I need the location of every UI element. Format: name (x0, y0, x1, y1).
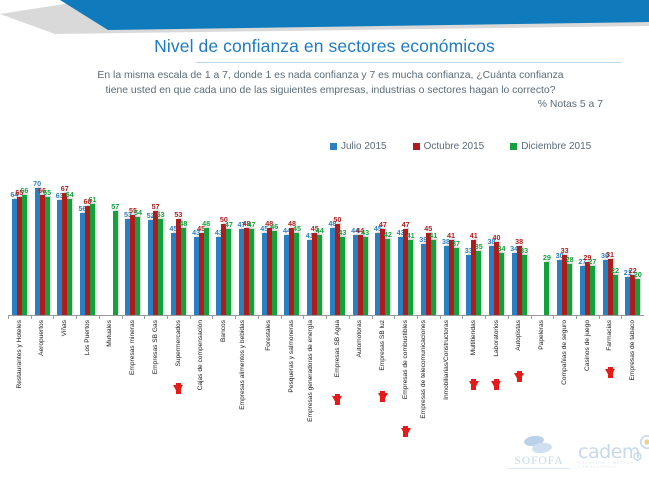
decline-arrow-icon (491, 381, 501, 390)
category-label: Mutuales (106, 320, 114, 347)
bar-group: 272927 (576, 150, 599, 315)
bar-value-label: 41 (429, 232, 437, 240)
bar-dic[interactable]: 48 (204, 228, 209, 315)
bar-value-label: 29 (543, 254, 551, 262)
bar-group: 444845 (281, 150, 304, 315)
x-axis-category: Empresas de telecomunicaciones (417, 318, 440, 438)
bar-value-label: 47 (225, 221, 233, 229)
bar-group: 384034 (485, 150, 508, 315)
page-title: Nivel de confianza en sectores económico… (0, 36, 649, 57)
category-label: Laboratorios (493, 320, 501, 357)
bar-group: 303328 (553, 150, 576, 315)
x-axis-category: Laboratorios (485, 318, 508, 438)
bar-slot: 34 (499, 150, 504, 315)
x-axis-category: Compañías de seguro (553, 318, 576, 438)
bar-slot: 20 (635, 150, 640, 315)
sofofa-wordmark: SOFOFA (508, 455, 570, 467)
bar-dic[interactable]: 33 (522, 255, 527, 315)
x-axis-category: Inmobiliarias/Constructoras (440, 318, 463, 438)
bar-dic[interactable]: 41 (431, 240, 436, 315)
x-axis-category: Empresas SB Gas (144, 318, 167, 438)
bar-dic[interactable]: 61 (90, 204, 95, 315)
bar-group: 303122 (599, 150, 622, 315)
bar-value-label: 33 (520, 247, 528, 255)
bar-dic[interactable]: 66 (22, 195, 27, 315)
bar-group: 384137 (440, 150, 463, 315)
category-label: Cajas de compensación (197, 320, 205, 390)
x-axis-category: Autopistas (508, 318, 531, 438)
bar-group: 646566 (8, 150, 31, 315)
category-label: Forestales (265, 320, 273, 351)
decline-arrow-icon (378, 393, 388, 402)
x-axis-category: Empresas de combustibles (394, 318, 417, 438)
bar-slot: 45 (294, 150, 299, 315)
bar-value-label: 42 (384, 231, 392, 239)
bar-slot: 65 (45, 150, 50, 315)
category-label: Compañías de seguro (561, 320, 569, 385)
legend-swatch-diciembre (510, 143, 517, 150)
category-label: Empresas de telecomunicaciones (420, 320, 436, 419)
category-label: Inmobiliarias/Constructoras (443, 320, 459, 400)
x-axis-category: Empresas SB Agua (326, 318, 349, 438)
title-divider (196, 62, 621, 63)
bar-value-label: 47 (248, 221, 256, 229)
subtitle: En la misma escala de 1 a 7, donde 1 es … (58, 68, 603, 98)
category-label: Empresas generadoras de energía (307, 320, 323, 422)
bar-slot: 54 (135, 150, 140, 315)
bar-dic[interactable]: 43 (363, 237, 368, 315)
bar-dic[interactable]: 41 (408, 240, 413, 315)
bar-slot: 28 (567, 150, 572, 315)
bar-group: 434548 (190, 150, 213, 315)
bar-dic[interactable]: 42 (385, 239, 390, 315)
bar-dic[interactable]: 54 (135, 217, 140, 315)
percent-note: % Notas 5 a 7 (58, 99, 603, 110)
sofofa-underline (508, 468, 570, 469)
category-label: Empresas de combustibles (402, 320, 410, 399)
x-axis-category: Empresas generadoras de energía (303, 318, 326, 438)
cadem-dot-icon (640, 435, 649, 453)
category-label: Viñas (61, 320, 69, 336)
bar-group: 454846 (258, 150, 281, 315)
decline-arrow-icon (605, 369, 615, 378)
bar-value-label: 54 (134, 209, 142, 217)
category-label: Pesqueras y salmoneras (288, 320, 296, 393)
bar-value-label: 64 (66, 191, 74, 199)
category-label: Empresas SB Gas (152, 320, 160, 374)
x-axis-category: Empresas SB luz (372, 318, 395, 438)
bar-dic[interactable]: 22 (613, 275, 618, 315)
bar-group: 525753 (144, 150, 167, 315)
category-label: Casinos de juego (584, 320, 592, 371)
header-banner (0, 0, 649, 40)
cadem-wordmark: cadem (578, 441, 640, 463)
bar-group: 29 (531, 150, 554, 315)
bar-value-label: 35 (475, 243, 483, 251)
bar-slot: 33 (522, 150, 527, 315)
legend-swatch-octubre (413, 143, 420, 150)
bar-group: 535554 (122, 150, 145, 315)
bar-slot: 41 (408, 150, 413, 315)
bar-group: 334135 (462, 150, 485, 315)
footer-logos: SOFOFA cadem ESTUDIOS · MEDIOS · CONSULT… (0, 429, 649, 473)
bar-value-label: 44 (316, 227, 324, 235)
category-label: Supermercados (175, 320, 183, 367)
bar-slot: 66 (22, 150, 27, 315)
bar-group: 394541 (417, 150, 440, 315)
bar-value-label: 43 (338, 229, 346, 237)
bar-value-label: 57 (111, 203, 119, 211)
bar-value-label: 45 (293, 225, 301, 233)
bar-group: 212220 (621, 150, 644, 315)
bar-dic[interactable]: 37 (454, 248, 459, 315)
bar-value-label: 65 (43, 189, 51, 197)
bar-group: 455348 (167, 150, 190, 315)
bar-dic[interactable]: 47 (249, 229, 254, 315)
x-axis-category: Empresas alimentos y bebidas (235, 318, 258, 438)
category-label: Papeleras (538, 320, 546, 350)
x-axis-category: Forestales (258, 318, 281, 438)
bar-group: 414544 (303, 150, 326, 315)
x-axis-category: Casinos de juego (576, 318, 599, 438)
x-axis-category-labels: Restaurantes y HotelesAeropuertosViñasLo… (8, 318, 644, 438)
bar-dic[interactable]: 57 (113, 211, 118, 315)
bar-group: 566061 (76, 150, 99, 315)
bar-slot: 37 (454, 150, 459, 315)
cadem-logo: cadem ESTUDIOS · MEDIOS · CONSULTORIA (578, 441, 649, 469)
bar-dic[interactable]: 34 (499, 253, 504, 315)
bar-slot: 43 (363, 150, 368, 315)
category-label: Autopistas (515, 320, 523, 351)
bar-slot: 41 (431, 150, 436, 315)
category-label: Empresas SB Agua (334, 320, 342, 377)
bar-dic[interactable]: 28 (567, 264, 572, 315)
bar-slot: 35 (476, 150, 481, 315)
bar-group: 434741 (394, 150, 417, 315)
bar-value-label: 43 (361, 229, 369, 237)
x-axis-category: Viñas (53, 318, 76, 438)
bar-value-label: 22 (611, 267, 619, 275)
bar-slot: 44 (317, 150, 322, 315)
bar-value-label: 20 (634, 271, 642, 279)
bar-value-label: 66 (20, 187, 28, 195)
category-label: Bancos (220, 320, 228, 342)
bar-value-label: 41 (407, 232, 415, 240)
bar-dic[interactable]: 44 (317, 235, 322, 315)
category-label: Los Puertos (84, 320, 92, 355)
bar-slot: 48 (204, 150, 209, 315)
bar-dic[interactable]: 46 (272, 231, 277, 315)
x-axis-category: Supermercados (167, 318, 190, 438)
x-axis-line (8, 315, 644, 316)
bar-slot: 47 (226, 150, 231, 315)
bar-dic[interactable]: 53 (158, 219, 163, 315)
bar-group: 343833 (508, 150, 531, 315)
decline-arrow-icon (173, 385, 183, 394)
bar-value-label: 48 (179, 220, 187, 228)
decline-arrow-icon (514, 373, 524, 382)
x-axis-category: Automotoras (349, 318, 372, 438)
x-axis-category: Cajas de compensación (190, 318, 213, 438)
bar-value-label: 48 (202, 220, 210, 228)
category-label: Empresas alimentos y bebidas (239, 320, 255, 410)
bar-group: 485043 (326, 150, 349, 315)
bar-slot: 61 (90, 150, 95, 315)
bar-groups: 6465667066656367645660615753555452575345… (8, 150, 644, 315)
subtitle-line-1: En la misma escala de 1 a 7, donde 1 es … (58, 68, 603, 83)
x-axis-category: Empresas mineras (122, 318, 145, 438)
x-axis-category: Multitiendas (462, 318, 485, 438)
subtitle-line-2: tiene usted en que cada uno de las sigui… (58, 83, 603, 98)
bar-group: 636764 (53, 150, 76, 315)
bar-slot: 22 (613, 150, 618, 315)
bar-group: 57 (99, 150, 122, 315)
bar-slot: 64 (67, 150, 72, 315)
category-label: Restaurantes y Hoteles (16, 320, 24, 389)
bar-group: 454742 (372, 150, 395, 315)
bar-dic[interactable]: 48 (181, 228, 186, 315)
x-axis-category: Papeleras (531, 318, 554, 438)
chart-plot-area: 6465667066656367645660615753555452575345… (8, 150, 644, 315)
category-label: Empresas SB luz (379, 320, 387, 371)
decline-arrow-icon (332, 396, 342, 405)
category-label: Farmacias (606, 320, 614, 351)
bar-dic[interactable]: 47 (226, 229, 231, 315)
sofofa-logo: SOFOFA (508, 435, 570, 469)
x-axis-category: Mutuales (99, 318, 122, 438)
x-axis-category: Farmacias (599, 318, 622, 438)
bar-dic[interactable]: 29 (544, 262, 549, 315)
decline-arrow-icon (469, 381, 479, 390)
bar-slot: 53 (158, 150, 163, 315)
bar-value-label: 28 (566, 256, 574, 264)
cadem-small-dot-icon (633, 452, 642, 461)
bar-dic[interactable]: 27 (590, 266, 595, 315)
bar-slot: 46 (272, 150, 277, 315)
bar-slot: 57 (113, 150, 118, 315)
bar-value-label: 61 (89, 196, 97, 204)
bar-value-label: 34 (497, 245, 505, 253)
bar-slot: 27 (590, 150, 595, 315)
category-label: Automotoras (356, 320, 364, 357)
x-axis-category: Los Puertos (76, 318, 99, 438)
bar-group: 444443 (349, 150, 372, 315)
x-axis-category: Aeropuertos (31, 318, 54, 438)
bar-value-label: 46 (270, 223, 278, 231)
bar-dic[interactable]: 35 (476, 251, 481, 315)
category-label: Aeropuertos (38, 320, 46, 356)
bar-slot: 48 (181, 150, 186, 315)
category-label: Empresas mineras (129, 320, 137, 375)
bar-value-label: 27 (588, 258, 596, 266)
bar-value-label: 53 (157, 211, 165, 219)
bar-group: 474847 (235, 150, 258, 315)
bar-dic[interactable]: 20 (635, 279, 640, 315)
bar-dic[interactable]: 65 (45, 197, 50, 315)
legend-swatch-julio (330, 143, 337, 150)
bar-slot: 43 (340, 150, 345, 315)
bar-group: 435047 (212, 150, 235, 315)
bar-value-label: 37 (452, 240, 460, 248)
bar-dic[interactable]: 45 (294, 233, 299, 315)
bar-slot: 47 (249, 150, 254, 315)
bar-group: 706665 (31, 150, 54, 315)
bar-slot: 42 (385, 150, 390, 315)
x-axis-category: Pesqueras y salmoneras (281, 318, 304, 438)
x-axis-category: Empresas de tabaco (621, 318, 644, 438)
x-axis-category: Bancos (212, 318, 235, 438)
bar-slot: 29 (544, 150, 549, 315)
bar-dic[interactable]: 64 (67, 199, 72, 315)
category-label: Multitiendas (470, 320, 478, 355)
sofofa-mark-icon (515, 435, 563, 455)
bar-dic[interactable]: 43 (340, 237, 345, 315)
category-label: Empresas de tabaco (629, 320, 637, 380)
x-axis-category: Restaurantes y Hoteles (8, 318, 31, 438)
